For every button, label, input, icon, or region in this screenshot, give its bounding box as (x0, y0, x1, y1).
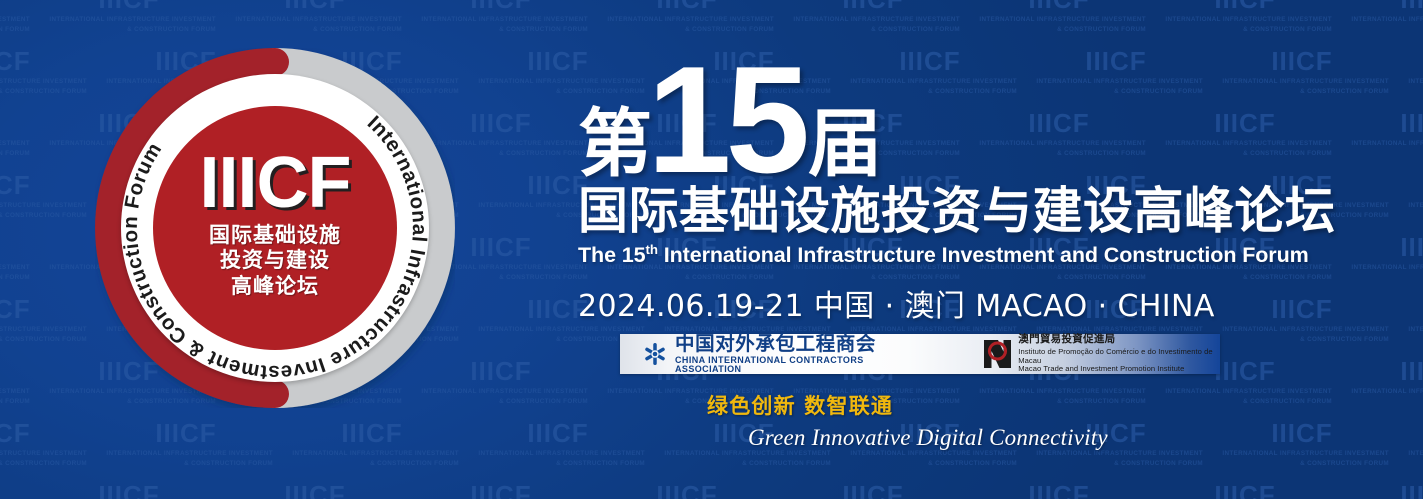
watermark-tile: IIICFINTERNATIONAL INFRASTRUCTURE INVEST… (1395, 172, 1423, 234)
watermark-acronym: IIICF (1214, 480, 1275, 499)
tagline-chinese: 绿色创新 数智联通 (707, 390, 1108, 420)
watermark-subtitle-line-1: INTERNATIONAL INFRASTRUCTURE INVESTMENT (1351, 16, 1423, 23)
sponsor-cica-english: CHINA INTERNATIONAL CONTRACTORS ASSOCIAT… (675, 356, 912, 374)
watermark-tile: IIICFINTERNATIONAL INFRASTRUCTURE INVEST… (1152, 0, 1338, 48)
watermark-subtitle-line-1: INTERNATIONAL INFRASTRUCTURE INVESTMENT (106, 450, 273, 457)
watermark-subtitle-line-1: INTERNATIONAL INFRASTRUCTURE INVESTMENT (292, 450, 459, 457)
watermark-tile: IIICFINTERNATIONAL INFRASTRUCTURE INVEST… (222, 0, 408, 48)
watermark-acronym: IIICF (98, 0, 159, 15)
watermark-subtitle-line-2: & CONSTRUCTION FORUM (1243, 398, 1332, 405)
watermark-subtitle-line-1: INTERNATIONAL INFRASTRUCTURE INVESTMENT (0, 16, 30, 23)
edition-line: 第 15 届 (578, 52, 1278, 180)
watermark-tile: IIICFINTERNATIONAL INFRASTRUCTURE INVEST… (0, 358, 36, 420)
watermark-tile: IIICFINTERNATIONAL INFRASTRUCTURE INVEST… (0, 296, 93, 358)
watermark-acronym: IIICF (470, 356, 531, 387)
watermark-subtitle-line-1: INTERNATIONAL INFRASTRUCTURE INVESTMENT (1222, 450, 1389, 457)
sponsor-ipim-english: Macao Trade and Investment Promotion Ins… (1018, 365, 1220, 374)
watermark-acronym: IIICF (341, 418, 402, 449)
edition-number: 15 (647, 61, 804, 180)
watermark-subtitle-line-2: & CONSTRUCTION FORUM (1243, 26, 1332, 33)
watermark-subtitle-line-2: & CONSTRUCTION FORUM (0, 460, 87, 467)
sponsor-cica-text: 中国对外承包工程商会 CHINA INTERNATIONAL CONTRACTO… (675, 334, 912, 374)
watermark-subtitle-line-1: INTERNATIONAL INFRASTRUCTURE INVESTMENT (478, 326, 645, 333)
sponsor-ipim: 澳門貿易投資促進局 Instituto de Promoção do Comér… (984, 334, 1220, 373)
watermark-subtitle-line-1: INTERNATIONAL INFRASTRUCTURE INVESTMENT (1036, 450, 1203, 457)
sponsor-logo-bar: 中国对外承包工程商会 CHINA INTERNATIONAL CONTRACTO… (620, 334, 1220, 374)
watermark-tile: IIICFINTERNATIONAL INFRASTRUCTURE INVEST… (279, 420, 465, 482)
watermark-tile: IIICFINTERNATIONAL INFRASTRUCTURE INVEST… (465, 420, 651, 482)
watermark-subtitle-line-1: INTERNATIONAL INFRASTRUCTURE INVESTMENT (1165, 16, 1332, 23)
watermark-subtitle-line-1: INTERNATIONAL INFRASTRUCTURE INVESTMENT (1351, 140, 1423, 147)
watermark-subtitle-line-1: INTERNATIONAL INFRASTRUCTURE INVESTMENT (0, 264, 30, 271)
date-and-location: 2024.06.19-21 中国 · 澳门 MACAO · CHINA (578, 281, 1278, 325)
watermark-subtitle-line-1: INTERNATIONAL INFRASTRUCTURE INVESTMENT (1351, 388, 1423, 395)
watermark-acronym: IIICF (1271, 418, 1332, 449)
emblem-cn-line-3: 高峰论坛 (209, 274, 341, 300)
watermark-subtitle-line-1: INTERNATIONAL INFRASTRUCTURE INVESTMENT (1408, 326, 1423, 333)
watermark-subtitle-line-1: INTERNATIONAL INFRASTRUCTURE INVESTMENT (793, 16, 960, 23)
watermark-acronym: IIICF (470, 480, 531, 499)
emblem-cn-line-1: 国际基础设施 (209, 223, 341, 249)
forum-title-english-before: The 15 (578, 243, 646, 267)
watermark-subtitle-line-2: & CONSTRUCTION FORUM (499, 150, 588, 157)
watermark-tile: IIICFINTERNATIONAL INFRASTRUCTURE INVEST… (594, 482, 780, 499)
watermark-subtitle-line-2: & CONSTRUCTION FORUM (685, 26, 774, 33)
edition-suffix: 届 (808, 110, 881, 180)
watermark-subtitle-line-2: & CONSTRUCTION FORUM (0, 150, 30, 157)
watermark-acronym: IIICF (656, 480, 717, 499)
watermark-tile: IIICFINTERNATIONAL INFRASTRUCTURE INVEST… (780, 482, 966, 499)
watermark-acronym: IIICF (656, 0, 717, 15)
watermark-acronym: IIICF (0, 294, 31, 325)
watermark-subtitle-line-2: & CONSTRUCTION FORUM (313, 26, 402, 33)
watermark-tile: IIICFINTERNATIONAL INFRASTRUCTURE INVEST… (0, 110, 36, 172)
watermark-subtitle-line-1: INTERNATIONAL INFRASTRUCTURE INVESTMENT (1408, 450, 1423, 457)
watermark-tile: IIICFINTERNATIONAL INFRASTRUCTURE INVEST… (1338, 482, 1423, 499)
watermark-acronym: IIICF (1400, 480, 1423, 499)
watermark-subtitle-line-1: INTERNATIONAL INFRASTRUCTURE INVESTMENT (0, 202, 87, 209)
watermark-acronym: IIICF (1400, 356, 1423, 387)
watermark-subtitle-line-2: & CONSTRUCTION FORUM (0, 26, 30, 33)
watermark-tile: IIICFINTERNATIONAL INFRASTRUCTURE INVEST… (1395, 420, 1423, 482)
watermark-subtitle-line-2: & CONSTRUCTION FORUM (0, 212, 87, 219)
watermark-tile: IIICFINTERNATIONAL INFRASTRUCTURE INVEST… (1338, 110, 1423, 172)
watermark-subtitle-line-1: INTERNATIONAL INFRASTRUCTURE INVESTMENT (0, 140, 30, 147)
watermark-subtitle-line-2: & CONSTRUCTION FORUM (127, 26, 216, 33)
watermark-acronym: IIICF (284, 0, 345, 15)
banner-text-block: 第 15 届 国际基础设施投资与建设高峰论坛 The 15th Internat… (578, 52, 1278, 325)
watermark-tile: IIICFINTERNATIONAL INFRASTRUCTURE INVEST… (1152, 482, 1338, 499)
watermark-acronym: IIICF (1214, 0, 1275, 15)
watermark-subtitle-line-1: INTERNATIONAL INFRASTRUCTURE INVESTMENT (421, 16, 588, 23)
watermark-tile: IIICFINTERNATIONAL INFRASTRUCTURE INVEST… (0, 482, 36, 499)
watermark-tile: IIICFINTERNATIONAL INFRASTRUCTURE INVEST… (36, 482, 222, 499)
watermark-subtitle-line-2: & CONSTRUCTION FORUM (184, 460, 273, 467)
watermark-subtitle-line-2: & CONSTRUCTION FORUM (499, 26, 588, 33)
watermark-subtitle-line-1: INTERNATIONAL INFRASTRUCTURE INVESTMENT (607, 16, 774, 23)
watermark-tile: IIICFINTERNATIONAL INFRASTRUCTURE INVEST… (1338, 234, 1423, 296)
forum-title-english: The 15th International Infrastructure In… (578, 242, 1278, 268)
watermark-tile: IIICFINTERNATIONAL INFRASTRUCTURE INVEST… (966, 0, 1152, 48)
snowflake-emblem-icon (642, 341, 668, 367)
watermark-subtitle-line-2: & CONSTRUCTION FORUM (370, 460, 459, 467)
emblem-cn-line-2: 投资与建设 (209, 248, 341, 274)
watermark-tile: IIICFINTERNATIONAL INFRASTRUCTURE INVEST… (408, 482, 594, 499)
watermark-subtitle-line-2: & CONSTRUCTION FORUM (1057, 26, 1146, 33)
iiicf-forum-banner: IIICFINTERNATIONAL INFRASTRUCTURE INVEST… (0, 0, 1423, 499)
sponsor-cica-chinese: 中国对外承包工程商会 (675, 334, 912, 354)
forum-tagline: 绿色创新 数智联通 Green Innovative Digital Conne… (707, 390, 1108, 451)
watermark-acronym: IIICF (1028, 0, 1089, 15)
watermark-acronym: IIICF (470, 0, 531, 15)
watermark-subtitle-line-1: INTERNATIONAL INFRASTRUCTURE INVESTMENT (1165, 388, 1332, 395)
watermark-tile: IIICFINTERNATIONAL INFRASTRUCTURE INVEST… (780, 0, 966, 48)
emblem-acronym: IIICF (200, 150, 351, 216)
emblem-center: IIICF 国际基础设施 投资与建设 高峰论坛 (153, 106, 397, 350)
sponsor-ipim-chinese: 澳門貿易投資促進局 (1018, 334, 1220, 346)
watermark-acronym: IIICF (1214, 356, 1275, 387)
watermark-subtitle-line-1: INTERNATIONAL INFRASTRUCTURE INVESTMENT (850, 450, 1017, 457)
watermark-acronym: IIICF (470, 232, 531, 263)
watermark-tile: IIICFINTERNATIONAL INFRASTRUCTURE INVEST… (36, 0, 222, 48)
watermark-subtitle-line-2: & CONSTRUCTION FORUM (0, 88, 87, 95)
watermark-tile: IIICFINTERNATIONAL INFRASTRUCTURE INVEST… (222, 482, 408, 499)
watermark-row: IIICFINTERNATIONAL INFRASTRUCTURE INVEST… (0, 482, 1423, 499)
watermark-tile: IIICFINTERNATIONAL INFRASTRUCTURE INVEST… (0, 0, 36, 48)
watermark-acronym: IIICF (1400, 232, 1423, 263)
emblem-chinese-name: 国际基础设施 投资与建设 高峰论坛 (209, 223, 341, 300)
watermark-subtitle-line-2: & CONSTRUCTION FORUM (1300, 460, 1389, 467)
watermark-subtitle-line-1: INTERNATIONAL INFRASTRUCTURE INVESTMENT (1351, 264, 1423, 271)
watermark-acronym: IIICF (1400, 0, 1423, 15)
forum-title-english-after: International Infrastructure Investment … (658, 243, 1309, 267)
watermark-subtitle-line-1: INTERNATIONAL INFRASTRUCTURE INVESTMENT (235, 16, 402, 23)
watermark-subtitle-line-1: INTERNATIONAL INFRASTRUCTURE INVESTMENT (0, 78, 87, 85)
watermark-subtitle-line-1: INTERNATIONAL INFRASTRUCTURE INVESTMENT (664, 450, 831, 457)
ipim-monogram-icon (984, 340, 1011, 368)
sponsor-cica: 中国对外承包工程商会 CHINA INTERNATIONAL CONTRACTO… (642, 334, 912, 374)
watermark-tile: IIICFINTERNATIONAL INFRASTRUCTURE INVEST… (0, 420, 93, 482)
watermark-acronym: IIICF (1271, 46, 1332, 77)
watermark-acronym: IIICF (0, 46, 31, 77)
watermark-acronym: IIICF (470, 108, 531, 139)
watermark-subtitle-line-1: INTERNATIONAL INFRASTRUCTURE INVESTMENT (478, 450, 645, 457)
forum-title-ordinal-suffix: th (646, 242, 658, 257)
watermark-subtitle-line-2: & CONSTRUCTION FORUM (1114, 460, 1203, 467)
tagline-english: Green Innovative Digital Connectivity (748, 425, 1108, 451)
sponsor-ipim-portuguese: Instituto de Promoção do Comércio e do I… (1018, 348, 1220, 365)
watermark-acronym: IIICF (1271, 294, 1332, 325)
watermark-subtitle-line-1: INTERNATIONAL INFRASTRUCTURE INVESTMENT (1408, 78, 1423, 85)
watermark-acronym: IIICF (1028, 480, 1089, 499)
watermark-acronym: IIICF (1400, 108, 1423, 139)
watermark-subtitle-line-2: & CONSTRUCTION FORUM (0, 398, 30, 405)
sponsor-ipim-text: 澳門貿易投資促進局 Instituto de Promoção do Comér… (1018, 334, 1220, 373)
watermark-subtitle-line-2: & CONSTRUCTION FORUM (499, 274, 588, 281)
watermark-subtitle-line-2: & CONSTRUCTION FORUM (871, 26, 960, 33)
watermark-tile: IIICFINTERNATIONAL INFRASTRUCTURE INVEST… (1338, 0, 1423, 48)
watermark-subtitle-line-2: & CONSTRUCTION FORUM (742, 460, 831, 467)
watermark-subtitle-line-2: & CONSTRUCTION FORUM (556, 460, 645, 467)
watermark-subtitle-line-2: & CONSTRUCTION FORUM (0, 274, 30, 281)
watermark-acronym: IIICF (842, 0, 903, 15)
watermark-tile: IIICFINTERNATIONAL INFRASTRUCTURE INVEST… (966, 482, 1152, 499)
watermark-subtitle-line-2: & CONSTRUCTION FORUM (499, 398, 588, 405)
watermark-subtitle-line-1: INTERNATIONAL INFRASTRUCTURE INVESTMENT (979, 16, 1146, 23)
watermark-acronym: IIICF (0, 170, 31, 201)
watermark-tile: IIICFINTERNATIONAL INFRASTRUCTURE INVEST… (1395, 296, 1423, 358)
watermark-subtitle-line-1: INTERNATIONAL INFRASTRUCTURE INVESTMENT (0, 450, 87, 457)
watermark-subtitle-line-2: & CONSTRUCTION FORUM (1300, 88, 1389, 95)
watermark-tile: IIICFINTERNATIONAL INFRASTRUCTURE INVEST… (1338, 358, 1423, 420)
watermark-tile: IIICFINTERNATIONAL INFRASTRUCTURE INVEST… (0, 234, 36, 296)
watermark-subtitle-line-2: & CONSTRUCTION FORUM (928, 460, 1017, 467)
watermark-tile: IIICFINTERNATIONAL INFRASTRUCTURE INVEST… (408, 0, 594, 48)
watermark-subtitle-line-1: INTERNATIONAL INFRASTRUCTURE INVESTMENT (49, 16, 216, 23)
watermark-subtitle-line-2: & CONSTRUCTION FORUM (0, 336, 87, 343)
watermark-tile: IIICFINTERNATIONAL INFRASTRUCTURE INVEST… (1209, 420, 1395, 482)
watermark-tile: IIICFINTERNATIONAL INFRASTRUCTURE INVEST… (1395, 48, 1423, 110)
watermark-acronym: IIICF (155, 418, 216, 449)
watermark-tile: IIICFINTERNATIONAL INFRASTRUCTURE INVEST… (0, 172, 93, 234)
watermark-tile: IIICFINTERNATIONAL INFRASTRUCTURE INVEST… (93, 420, 279, 482)
watermark-acronym: IIICF (0, 418, 31, 449)
watermark-subtitle-line-1: INTERNATIONAL INFRASTRUCTURE INVESTMENT (1222, 326, 1389, 333)
watermark-acronym: IIICF (842, 480, 903, 499)
watermark-subtitle-line-1: INTERNATIONAL INFRASTRUCTURE INVESTMENT (0, 388, 30, 395)
watermark-subtitle-line-1: INTERNATIONAL INFRASTRUCTURE INVESTMENT (0, 326, 87, 333)
edition-prefix: 第 (578, 110, 651, 180)
watermark-subtitle-line-1: INTERNATIONAL INFRASTRUCTURE INVESTMENT (1408, 202, 1423, 209)
watermark-tile: IIICFINTERNATIONAL INFRASTRUCTURE INVEST… (0, 48, 93, 110)
watermark-acronym: IIICF (98, 480, 159, 499)
watermark-acronym: IIICF (527, 418, 588, 449)
watermark-acronym: IIICF (284, 480, 345, 499)
watermark-subtitle-line-1: INTERNATIONAL INFRASTRUCTURE INVESTMENT (1036, 326, 1203, 333)
iiicf-emblem-logo: International Infrastructure Investment … (95, 48, 455, 408)
watermark-subtitle-line-2: & CONSTRUCTION FORUM (1300, 336, 1389, 343)
